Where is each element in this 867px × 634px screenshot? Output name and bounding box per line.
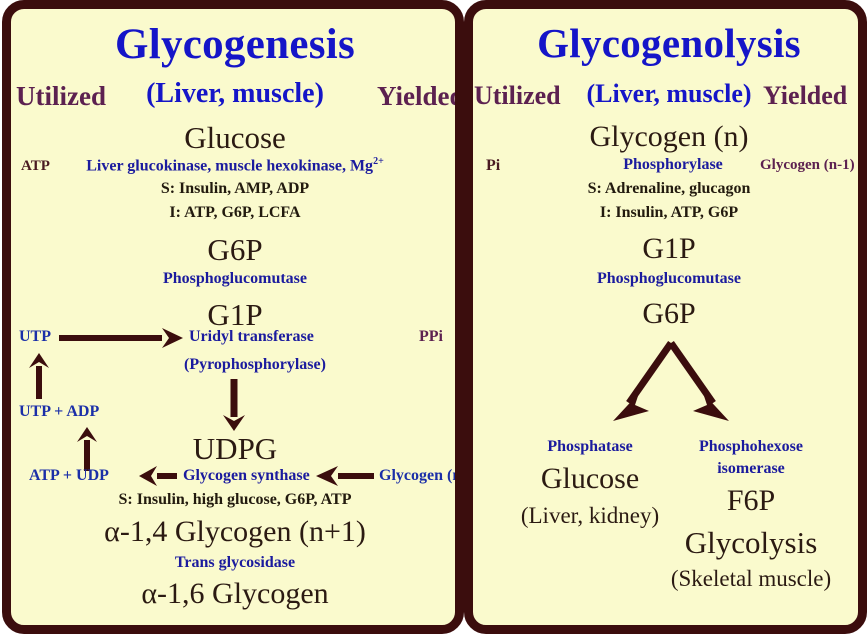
regulator-stimulators-2: S: Insulin, high glucose, G6P, ATP xyxy=(119,492,352,508)
metabolite-glycogen-n: Glycogen (n) xyxy=(589,122,748,152)
tissue-note-skeletal-muscle: (Skeletal muscle) xyxy=(671,567,831,590)
enzyme-phosphatase: Phosphatase xyxy=(547,439,632,455)
glycogenolysis-subtitle: (Liver, muscle) xyxy=(586,81,751,107)
right-header-yielded: Yielded xyxy=(763,83,847,109)
arrow-g6p-to-f6p xyxy=(669,341,729,421)
glycogenesis-content: Glycogenesis Utilized (Liver, muscle) Yi… xyxy=(11,9,455,625)
arrow-utpadp-to-utp xyxy=(27,353,51,399)
side-label-glycogen-n-minus-1: Glycogen (n-1) xyxy=(760,158,855,173)
metabolite-g1p-right: G1P xyxy=(642,234,695,264)
metabolite-glucose: Glucose xyxy=(184,122,286,153)
enzyme-glycogen-synthase: Glycogen synthase xyxy=(183,468,310,484)
enzyme-phosphohexose: Phosphohexose xyxy=(699,439,803,455)
enzyme-hexokinase-label: Liver glucokinase, muscle hexokinase, Mg xyxy=(86,157,373,174)
side-label-glycogen-n-left: Glycogen (n) xyxy=(379,468,464,484)
right-header-utilized: Utilized xyxy=(474,83,561,109)
metabolite-g1p-left: G1P xyxy=(207,299,262,330)
arrow-uridyl-to-udpg xyxy=(221,379,247,431)
enzyme-hexokinase: Liver glucokinase, muscle hexokinase, Mg… xyxy=(86,157,384,174)
left-header-utilized: Utilized xyxy=(16,83,106,110)
glycogenesis-subtitle: (Liver, muscle) xyxy=(146,80,324,108)
side-label-utp: UTP xyxy=(19,329,51,345)
side-label-atp: ATP xyxy=(21,159,50,174)
side-label-utp-adp: UTP + ADP xyxy=(19,404,99,420)
tissue-note-liver-kidney: (Liver, kidney) xyxy=(521,504,659,527)
enzyme-phosphoglucomutase-right: Phosphoglucomutase xyxy=(597,271,741,287)
pathway-diagram: Glycogenesis Utilized (Liver, muscle) Yi… xyxy=(0,0,867,634)
enzyme-phosphoglucomutase-left: Phosphoglucomutase xyxy=(163,271,307,287)
regulator-stimulators-right: S: Adrenaline, glucagon xyxy=(588,181,751,197)
enzyme-phosphorylase: Phosphorylase xyxy=(623,157,723,173)
enzyme-isomerase: isomerase xyxy=(717,461,785,477)
glycogenolysis-title: Glycogenolysis xyxy=(537,23,801,64)
enzyme-trans-glycosidase: Trans glycosidase xyxy=(175,555,295,571)
glycogenesis-title: Glycogenesis xyxy=(115,23,355,66)
regulator-stimulators-1: S: Insulin, AMP, ADP xyxy=(161,181,309,197)
metabolite-alpha16-glycogen: α-1,6 Glycogen xyxy=(141,579,328,609)
regulator-inhibitors-1: I: ATP, G6P, LCFA xyxy=(169,205,300,221)
arrow-to-atpudp xyxy=(139,465,177,487)
metabolite-g6p-left: G6P xyxy=(207,234,262,265)
metabolite-alpha14-glycogen: α-1,4 Glycogen (n+1) xyxy=(104,517,366,547)
enzyme-pyrophosphorylase: (Pyrophosphorylase) xyxy=(184,357,326,373)
arrow-atpudp-to-utpadp xyxy=(75,427,99,471)
arrow-g6p-to-glucose xyxy=(613,341,673,421)
side-label-ppi: PPi xyxy=(419,329,443,345)
metabolite-glycolysis: Glycolysis xyxy=(685,527,818,558)
metabolite-glucose-right: Glucose xyxy=(541,464,639,494)
left-header-yielded: Yielded xyxy=(377,83,464,110)
side-label-pi: Pi xyxy=(486,158,500,174)
glycogenesis-panel: Glycogenesis Utilized (Liver, muscle) Yi… xyxy=(2,0,464,634)
arrow-utp-to-uridyl xyxy=(59,327,184,349)
metabolite-udpg: UDPG xyxy=(193,433,277,464)
enzyme-uridyl-transferase: Uridyl transferase xyxy=(189,329,314,345)
metabolite-f6p: F6P xyxy=(727,486,775,516)
side-label-atp-udp: ATP + UDP xyxy=(29,468,109,484)
enzyme-superscript: 2+ xyxy=(373,156,384,167)
glycogenolysis-content: Glycogenolysis Utilized (Liver, muscle) … xyxy=(473,9,858,625)
regulator-inhibitors-right: I: Insulin, ATP, G6P xyxy=(600,205,738,221)
arrow-glycogen-to-synthase xyxy=(316,465,374,487)
glycogenolysis-panel: Glycogenolysis Utilized (Liver, muscle) … xyxy=(464,0,867,634)
metabolite-g6p-right: G6P xyxy=(642,299,695,329)
